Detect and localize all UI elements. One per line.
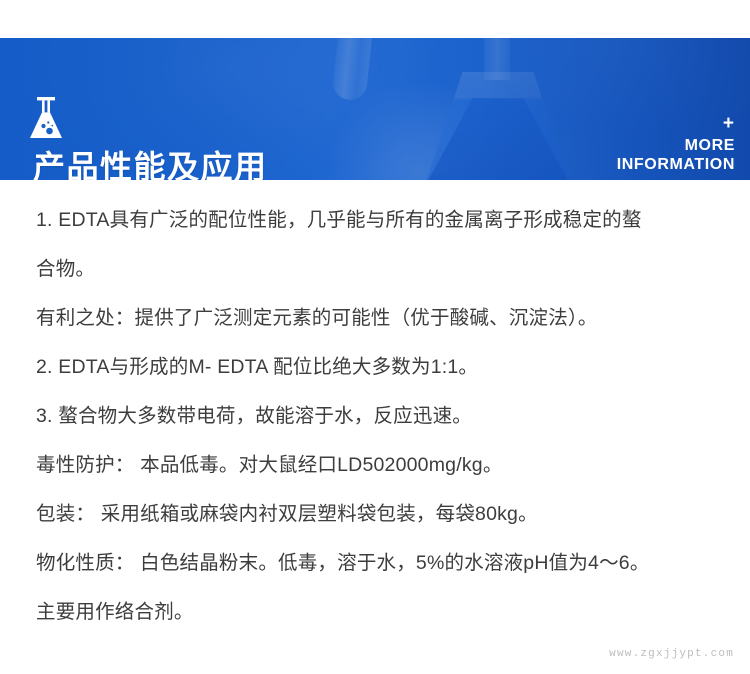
description-line: 2. EDTA与形成的M- EDTA 配位比绝大多数为1:1。 — [36, 343, 736, 392]
flask-icon — [29, 97, 63, 139]
description-line: 物化性质： 白色结晶粉末。低毒，溶于水，5%的水溶液pH值为4～6。 — [36, 539, 736, 588]
information-label: INFORMATION — [617, 156, 735, 175]
page-title: 产品性能及应用 — [33, 151, 268, 180]
site-watermark: www.zgxjjypt.com — [609, 648, 734, 660]
description-line: 有利之处：提供了广泛测定元素的可能性（优于酸碱、沉淀法）。 — [36, 294, 736, 343]
page-banner: 产品性能及应用 + MORE INFORMATION — [0, 38, 750, 180]
description-line: 主要用作络合剂。 — [36, 588, 736, 637]
more-label: MORE — [617, 137, 735, 156]
description-line: 3. 螯合物大多数带电荷，故能溶于水，反应迅速。 — [36, 392, 736, 441]
description-line: 包装： 采用纸箱或麻袋内衬双层塑料袋包装，每袋80kg。 — [36, 490, 736, 539]
plus-icon[interactable]: + — [617, 114, 734, 133]
description-line: 毒性防护： 本品低毒。对大鼠经口LD502000mg/kg。 — [36, 441, 736, 490]
description-line: 合物。 — [36, 245, 736, 294]
product-description: 1. EDTA具有广泛的配位性能，几乎能与所有的金属离子形成稳定的螯 合物。 有… — [36, 196, 736, 637]
more-information-block[interactable]: + MORE INFORMATION — [617, 114, 735, 175]
description-line: 1. EDTA具有广泛的配位性能，几乎能与所有的金属离子形成稳定的螯 — [36, 196, 736, 245]
